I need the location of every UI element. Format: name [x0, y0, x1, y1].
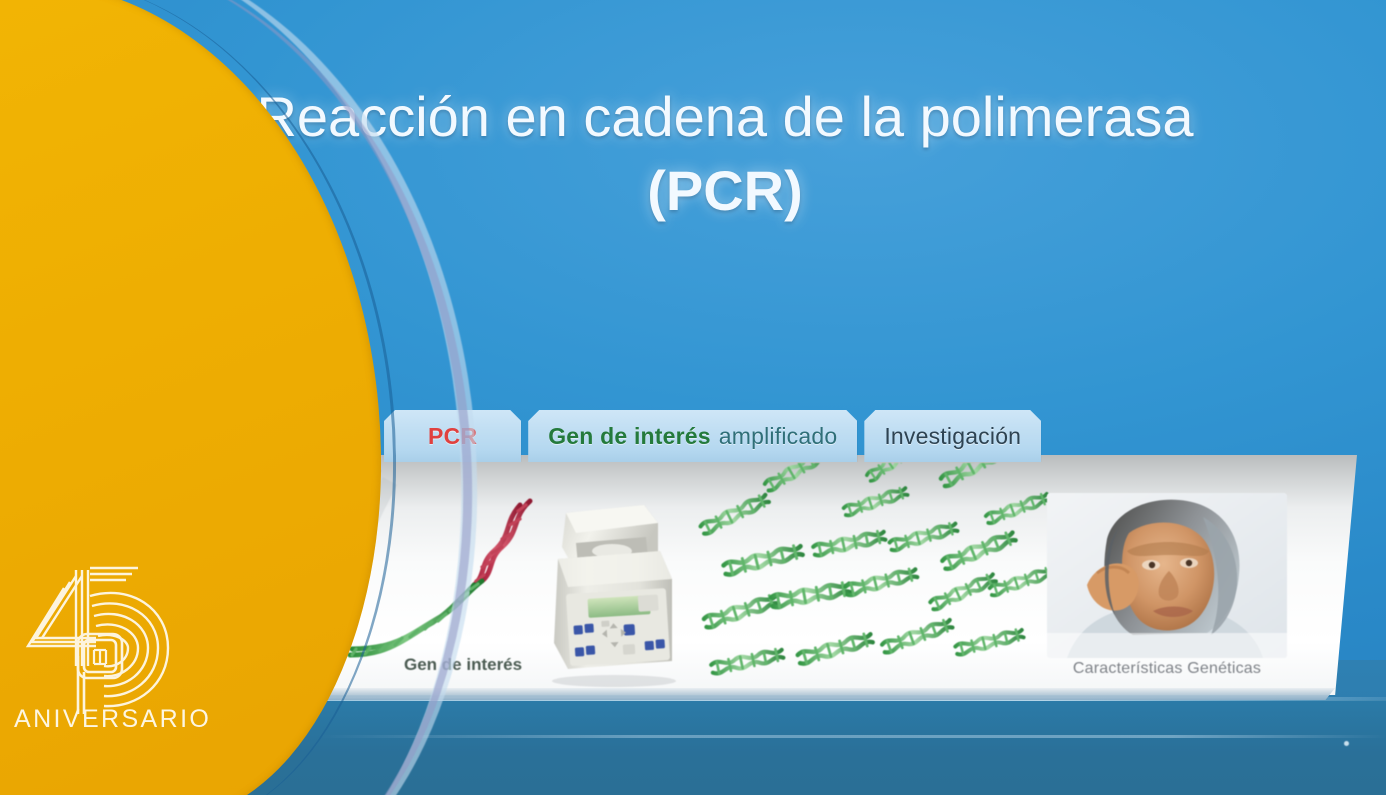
tab-gen-amplificado-label-rest: amplificado: [719, 423, 838, 450]
tab-investigacion-label: Investigación: [884, 423, 1021, 450]
pcr-thermocycler: [532, 493, 692, 688]
slide-title-line1: Reacción en cadena de la polimerasa: [256, 85, 1193, 148]
slide-canvas: Gen de interés: [0, 0, 1386, 795]
genetic-characteristics-photo: [1047, 493, 1287, 658]
floor-highlight-line-2: [320, 735, 1386, 738]
tab-gen-amplificado[interactable]: Gen de interés amplificado: [528, 410, 857, 462]
corner-dot-marker: [1344, 741, 1349, 746]
photo-caption: Características Genéticas: [1047, 660, 1287, 678]
amplified-dna-fragments: [692, 463, 1062, 693]
anniversary-logo-word: ANIVERSARIO: [14, 705, 204, 734]
tab-gen-amplificado-label-green: Gen de interés: [548, 423, 711, 450]
tab-investigacion[interactable]: Investigación: [864, 410, 1041, 462]
